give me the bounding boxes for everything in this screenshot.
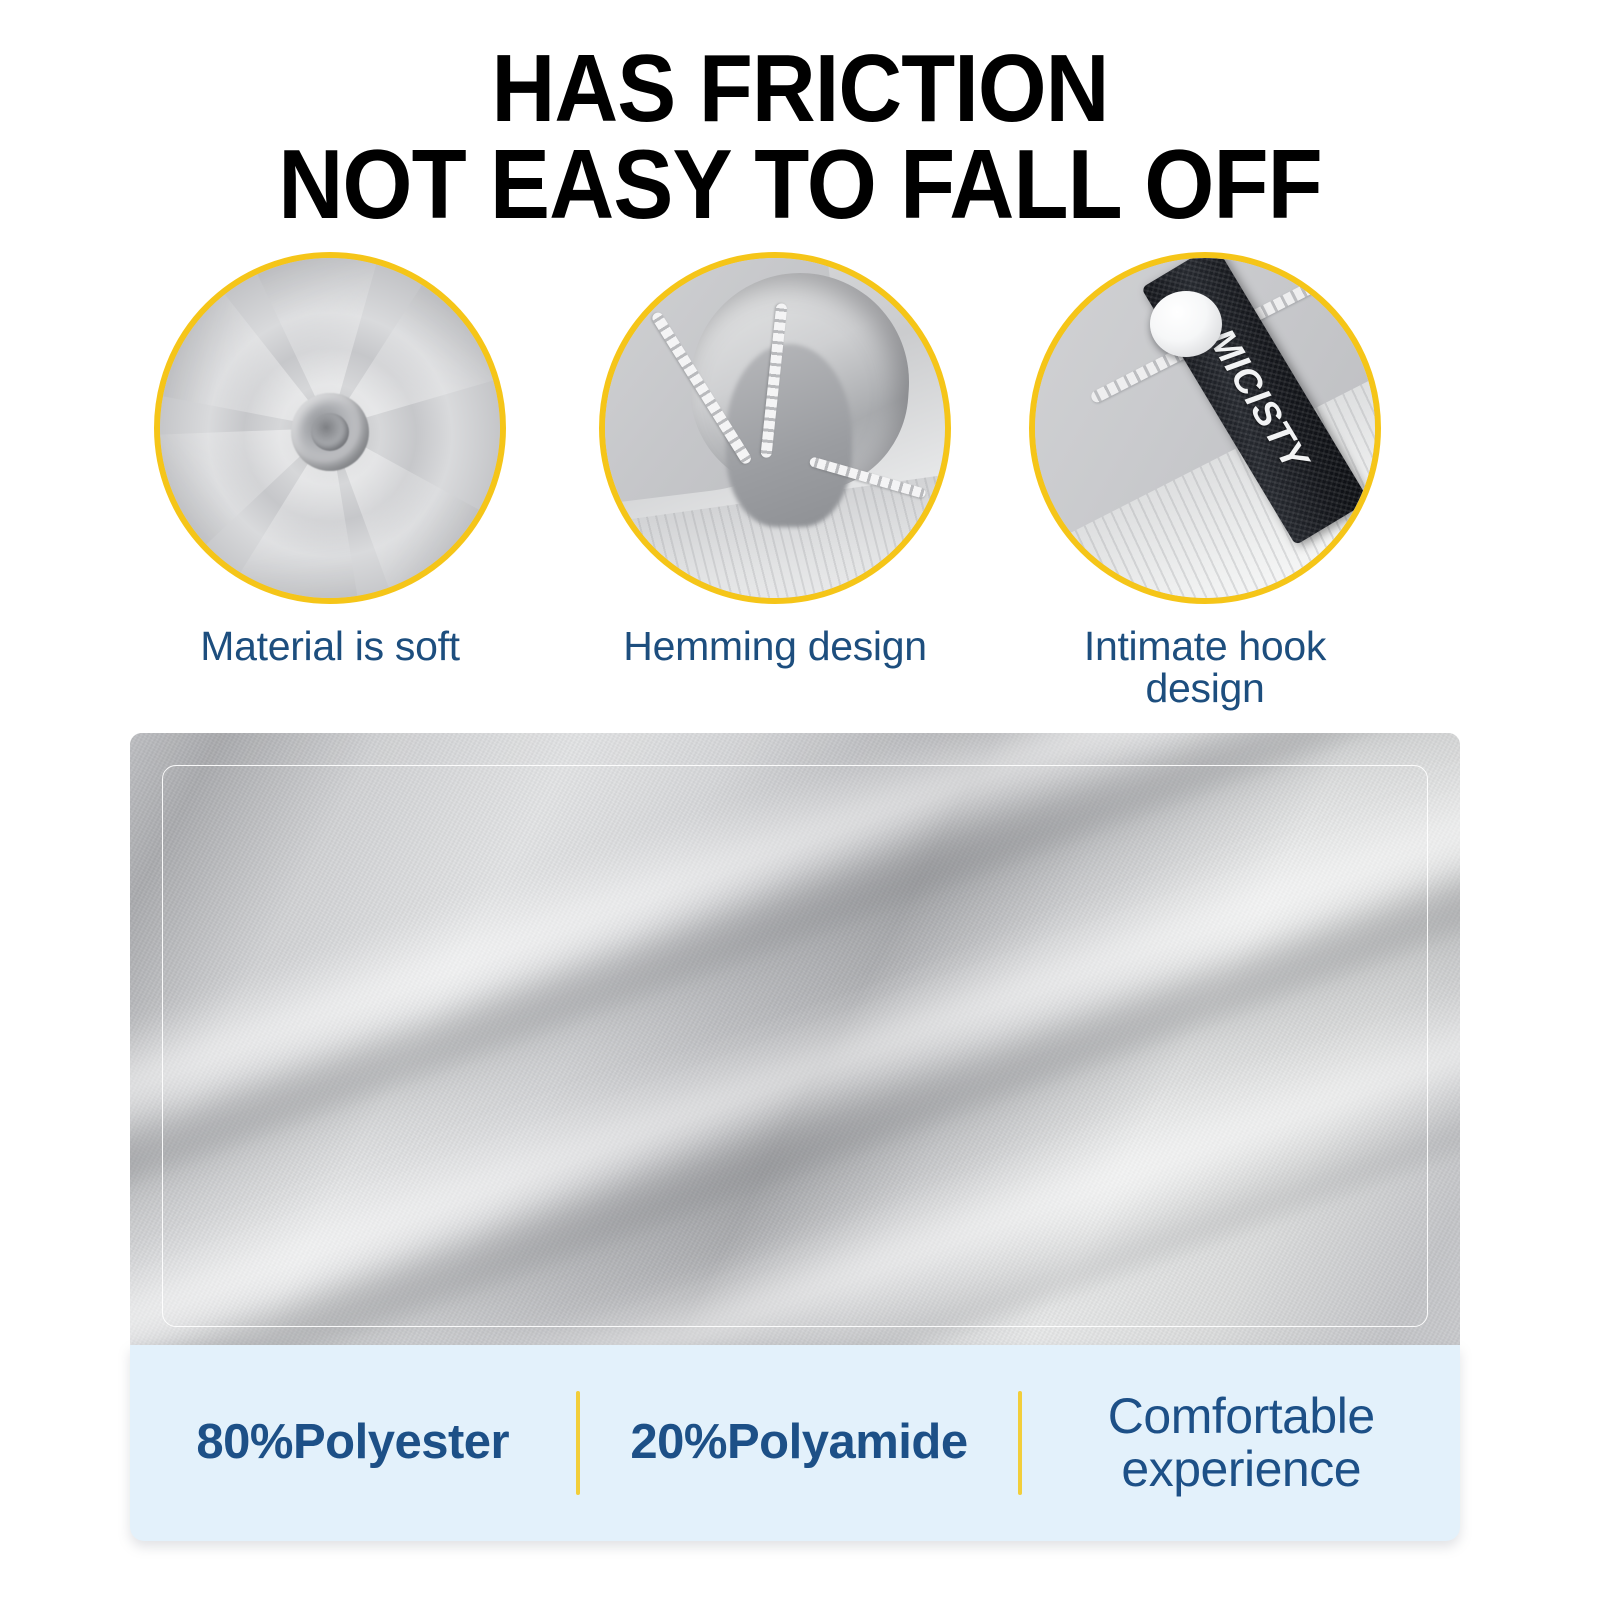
spec-item-polyamide: 20%Polyamide — [580, 1417, 1019, 1469]
spec-item-polyester: 80%Polyester — [130, 1417, 576, 1469]
swirl-texture — [160, 258, 500, 598]
page-title: HAS FRICTION NOT EASY TO FALL OFF — [64, 42, 1536, 232]
specification-bar: 80%Polyester 20%Polyamide Comfortable ex… — [130, 1345, 1460, 1541]
headline-line-1: HAS FRICTION — [64, 42, 1536, 136]
spec-item-comfort: Comfortable experience — [1022, 1390, 1460, 1496]
fabric-knot-center — [291, 393, 369, 471]
hook-texture: MICISTY — [1035, 258, 1375, 598]
feature-item-material-soft: Material is soft — [130, 252, 530, 668]
feature-caption: Material is soft — [130, 626, 530, 668]
hem-texture — [605, 258, 945, 598]
swirled-fabric-illustration — [160, 258, 500, 598]
feature-image-material-soft — [154, 252, 506, 604]
feature-image-hook-design: MICISTY — [1029, 252, 1381, 604]
hem-fold-illustration — [605, 258, 945, 598]
headline-line-2: NOT EASY TO FALL OFF — [64, 136, 1536, 232]
feature-image-hemming-design — [599, 252, 951, 604]
hook-tag-illustration: MICISTY — [1035, 258, 1375, 598]
fold-shadow-cavity — [726, 344, 853, 527]
feature-list: Material is soft Hemming design — [130, 252, 1470, 722]
snap-button-icon — [1150, 291, 1222, 357]
feature-caption: Hemming design — [575, 626, 975, 668]
feature-item-hook-design: MICISTY Intimate hook design — [1005, 252, 1405, 710]
feature-caption: Intimate hook design — [1005, 626, 1405, 710]
feature-item-hemming-design: Hemming design — [575, 252, 975, 668]
hero-product-image — [130, 733, 1460, 1345]
